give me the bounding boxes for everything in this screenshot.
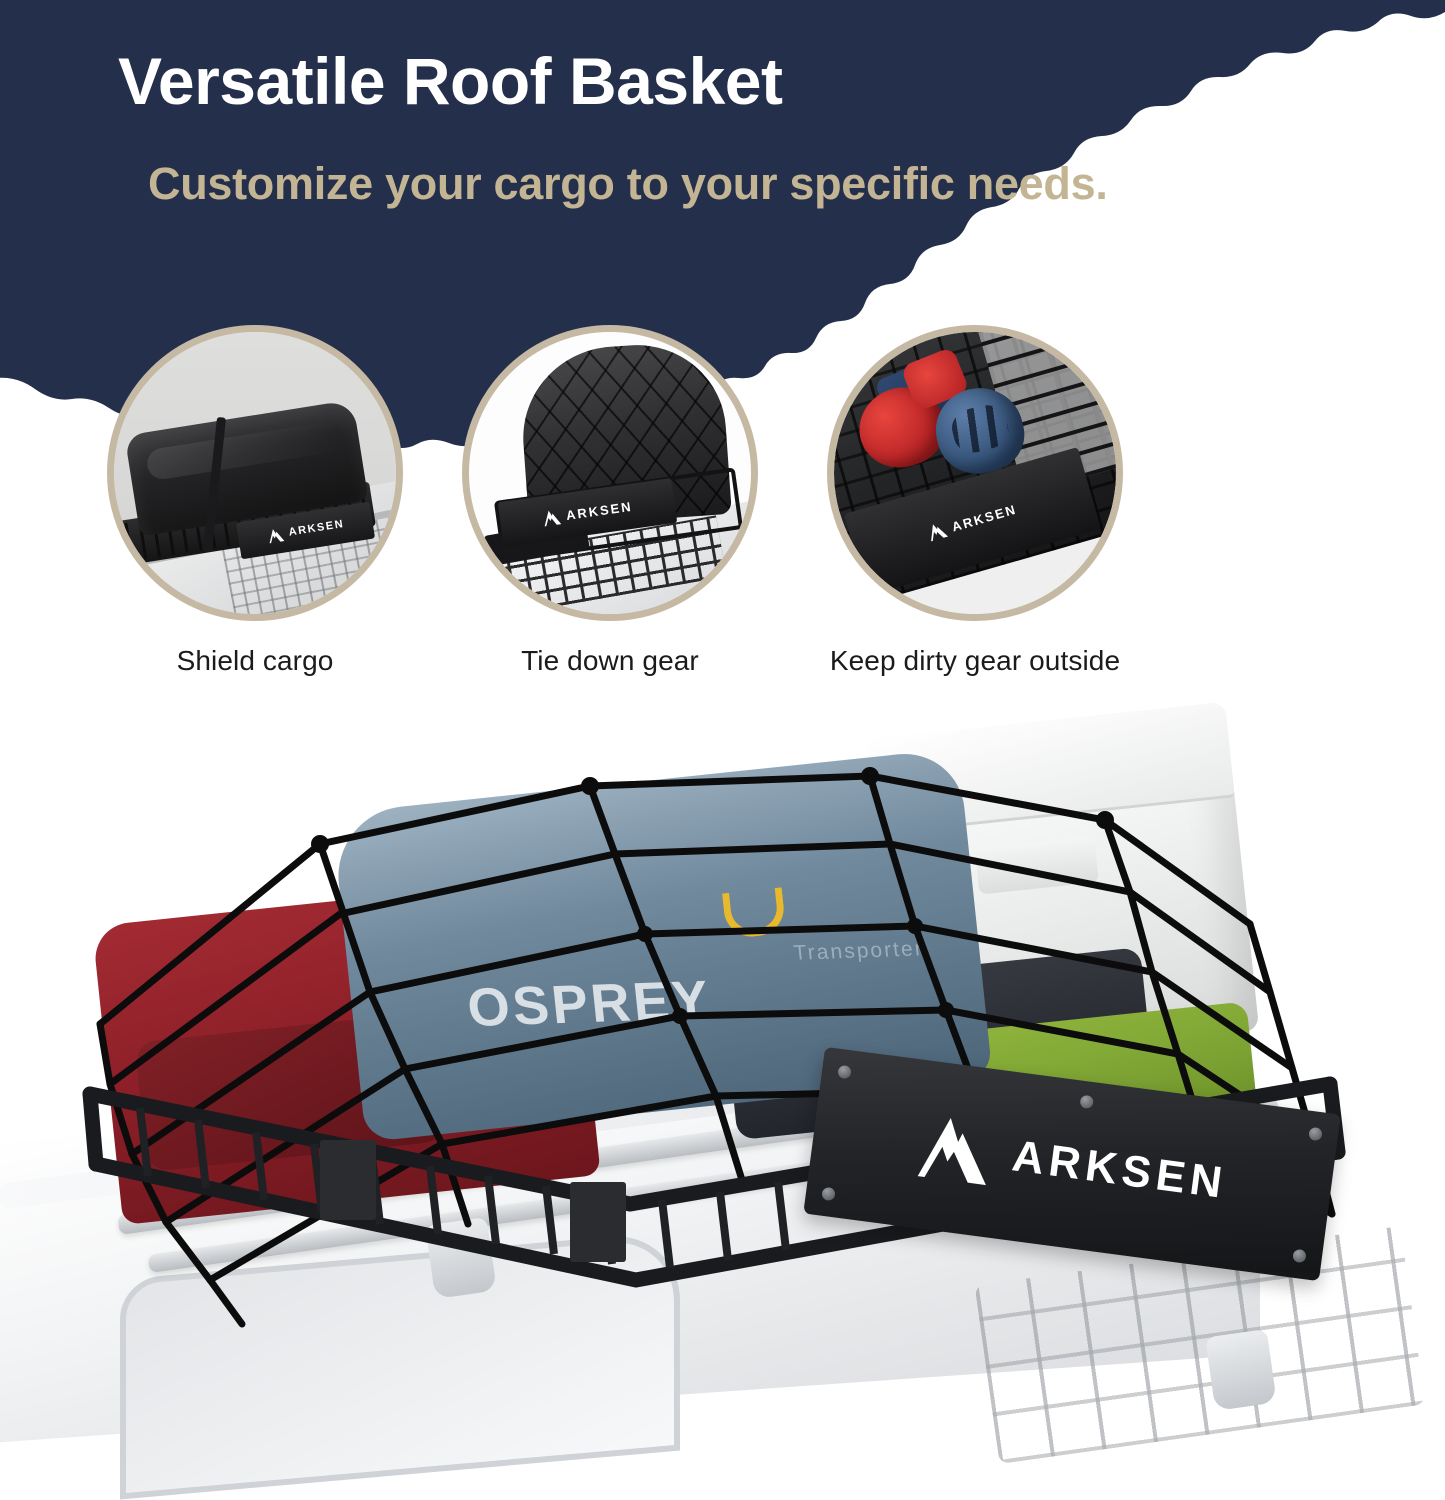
feature-caption-2: Tie down gear <box>460 643 760 679</box>
hero-product-photo: OSPREY Transporter <box>0 700 1445 1445</box>
plate-screw <box>1292 1249 1307 1264</box>
arksen-wordmark-2: ARKSEN <box>565 499 633 523</box>
feature-image-circle-1: ARKSEN <box>107 325 403 621</box>
feature-image-circle-3: ARKSEN <box>827 325 1123 621</box>
feature-shield-cargo: ARKSEN Shield cargo <box>105 325 405 679</box>
plate-screw <box>821 1187 836 1202</box>
feature-photo-1: ARKSEN <box>114 332 396 614</box>
feature-keep-dirty-gear-outside: ARKSEN Keep dirty gear outside <box>825 325 1125 679</box>
arksen-wordmark-1: ARKSEN <box>288 519 345 540</box>
feature-circle-row: ARKSEN Shield cargo <box>0 325 1445 715</box>
arksen-logo-lockup-2: ARKSEN <box>541 498 633 527</box>
plate-screw <box>837 1065 852 1080</box>
arksen-mountain-icon <box>266 527 285 544</box>
arksen-wordmark-hero: ARKSEN <box>1009 1131 1229 1209</box>
page-subheadline: Customize your cargo to your specific ne… <box>148 155 1258 213</box>
arksen-wordmark-3: ARKSEN <box>950 501 1018 534</box>
arksen-mountain-icon <box>926 519 950 542</box>
feature-image-circle-2: ARKSEN <box>462 325 758 621</box>
arksen-mountain-icon <box>541 508 562 527</box>
plate-screw <box>1308 1127 1323 1142</box>
arksen-logo-lockup-3: ARKSEN <box>926 500 1019 543</box>
plate-screw <box>1079 1095 1094 1110</box>
feature-caption-3: Keep dirty gear outside <box>825 643 1125 679</box>
arksen-mountain-icon <box>913 1109 999 1189</box>
feature-photo-2: ARKSEN <box>469 332 751 614</box>
feature-caption-1: Shield cargo <box>105 643 405 679</box>
feature-photo-3: ARKSEN <box>834 332 1116 614</box>
arksen-logo-lockup-1: ARKSEN <box>266 517 345 544</box>
roof-cargo-basket: OSPREY Transporter <box>70 724 1370 1344</box>
feature-tie-down-gear: ARKSEN Tie down gear <box>460 325 760 679</box>
page-headline: Versatile Roof Basket <box>118 46 782 117</box>
